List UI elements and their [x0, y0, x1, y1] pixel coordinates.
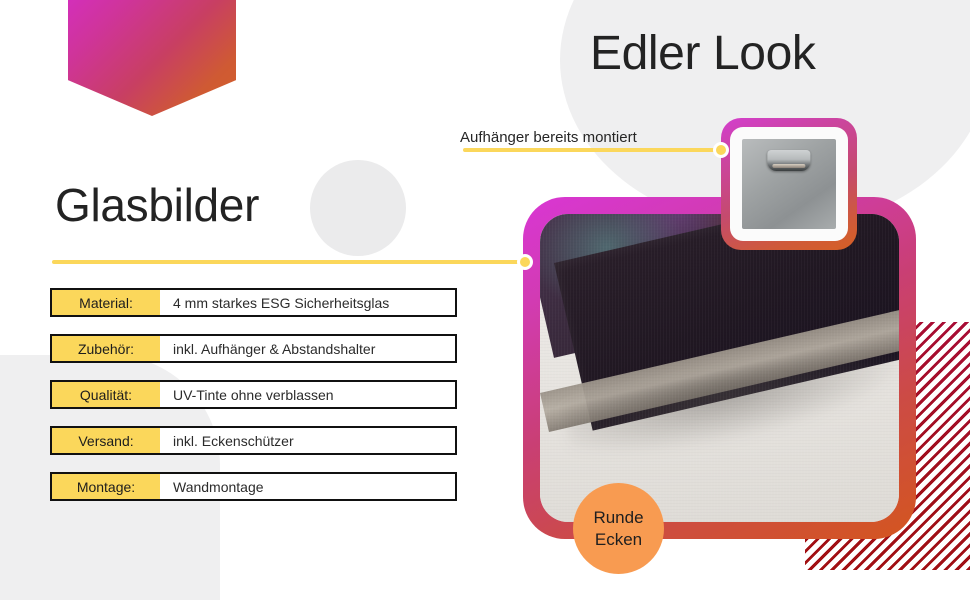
specification-table: Material: 4 mm starkes ESG Sicherheitsgl…: [50, 288, 457, 518]
page-title-left: Glasbilder: [55, 178, 259, 232]
badge-line-1: Runde: [593, 507, 643, 528]
hanger-bracket-icon: [767, 150, 810, 172]
poster-canvas: Edler Look Glasbilder Aufhänger bereits …: [0, 0, 970, 600]
spec-value: inkl. Aufhänger & Abstandshalter: [160, 336, 455, 361]
rounded-corners-badge: Runde Ecken: [573, 483, 664, 574]
spec-value: inkl. Eckenschützer: [160, 428, 455, 453]
badge-line-2: Ecken: [595, 529, 642, 550]
hanger-inset-matte: [730, 127, 848, 241]
product-photo-frame: [523, 197, 916, 539]
connector-line-main: [52, 260, 522, 264]
hanger-callout-label: Aufhänger bereits montiert: [460, 129, 637, 146]
table-row: Zubehör: inkl. Aufhänger & Abstandshalte…: [50, 334, 457, 363]
spec-value: Wandmontage: [160, 474, 455, 499]
ribbon-badge-icon: [68, 0, 236, 116]
connector-line-hanger: [463, 148, 716, 152]
product-photo: [540, 214, 899, 522]
connector-dot-main: [517, 254, 533, 270]
table-row: Qualität: UV-Tinte ohne verblassen: [50, 380, 457, 409]
table-row: Material: 4 mm starkes ESG Sicherheitsgl…: [50, 288, 457, 317]
spec-key: Qualität:: [52, 382, 160, 407]
page-title-right: Edler Look: [590, 26, 815, 81]
spec-key: Zubehör:: [52, 336, 160, 361]
hanger-detail-inset: [721, 118, 857, 250]
spec-key: Versand:: [52, 428, 160, 453]
spec-value: 4 mm starkes ESG Sicherheitsglas: [160, 290, 455, 315]
hanger-plate-image: [742, 139, 836, 229]
spec-value: UV-Tinte ohne verblassen: [160, 382, 455, 407]
background-circle-small: [310, 160, 406, 256]
spec-key: Material:: [52, 290, 160, 315]
spec-key: Montage:: [52, 474, 160, 499]
connector-dot-hanger: [713, 142, 729, 158]
table-row: Montage: Wandmontage: [50, 472, 457, 501]
table-row: Versand: inkl. Eckenschützer: [50, 426, 457, 455]
